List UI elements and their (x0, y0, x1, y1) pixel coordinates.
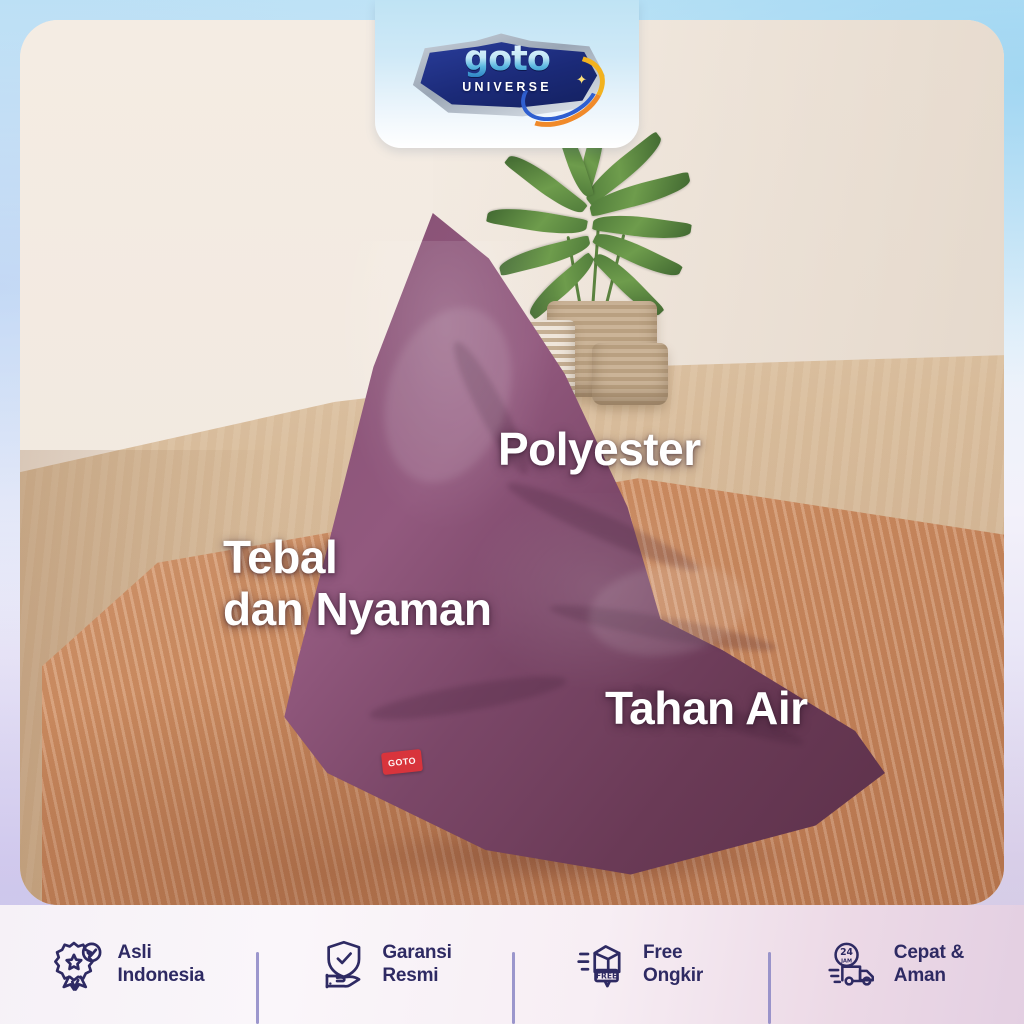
trust-item-asli-indonesia: Asli Indonesia (0, 938, 256, 992)
trust-item-free-ongkir: FREE Free Ongkir (512, 938, 768, 992)
trust-item-cepat-aman: 24 JAM Cepat & Aman (768, 938, 1024, 992)
trust-label-garansi-resmi: Garansi Resmi (382, 942, 451, 986)
trust-badge-bar: Asli Indonesia Garansi Resmi (0, 905, 1024, 1024)
trust-label-cepat-aman: Cepat & Aman (894, 942, 964, 986)
goto-universe-logo: ✦ goto UNIVERSE (409, 28, 605, 120)
feature-label-tebal-dan-nyaman: Tebal dan Nyaman (223, 532, 492, 635)
trust-item-garansi-resmi: Garansi Resmi (256, 938, 512, 992)
trust-label-asli-indonesia: Asli Indonesia (118, 942, 205, 986)
product-listing-card: GOTO Polyester Tebal dan Nyaman Tahan Ai… (0, 0, 1024, 1024)
trust-label-free-ongkir: Free Ongkir (643, 942, 703, 986)
svg-text:FREE: FREE (596, 971, 617, 980)
delivery-truck-24jam-icon: 24 JAM (828, 938, 882, 992)
shield-hand-icon (316, 938, 370, 992)
svg-text:JAM: JAM (840, 958, 852, 964)
svg-text:24: 24 (840, 946, 853, 957)
feature-label-polyester: Polyester (498, 424, 701, 476)
logo-wordmark: goto (409, 42, 605, 77)
logo-tagline: UNIVERSE (409, 80, 605, 94)
brand-fabric-tag: GOTO (381, 749, 423, 775)
brand-fabric-tag-text: GOTO (388, 756, 417, 769)
brand-logo-badge: ✦ goto UNIVERSE (375, 0, 639, 148)
badge-check-icon (52, 938, 106, 992)
free-shipping-box-icon: FREE (577, 938, 631, 992)
feature-label-tahan-air: Tahan Air (605, 683, 808, 735)
product-photo: GOTO Polyester Tebal dan Nyaman Tahan Ai… (20, 20, 1004, 905)
